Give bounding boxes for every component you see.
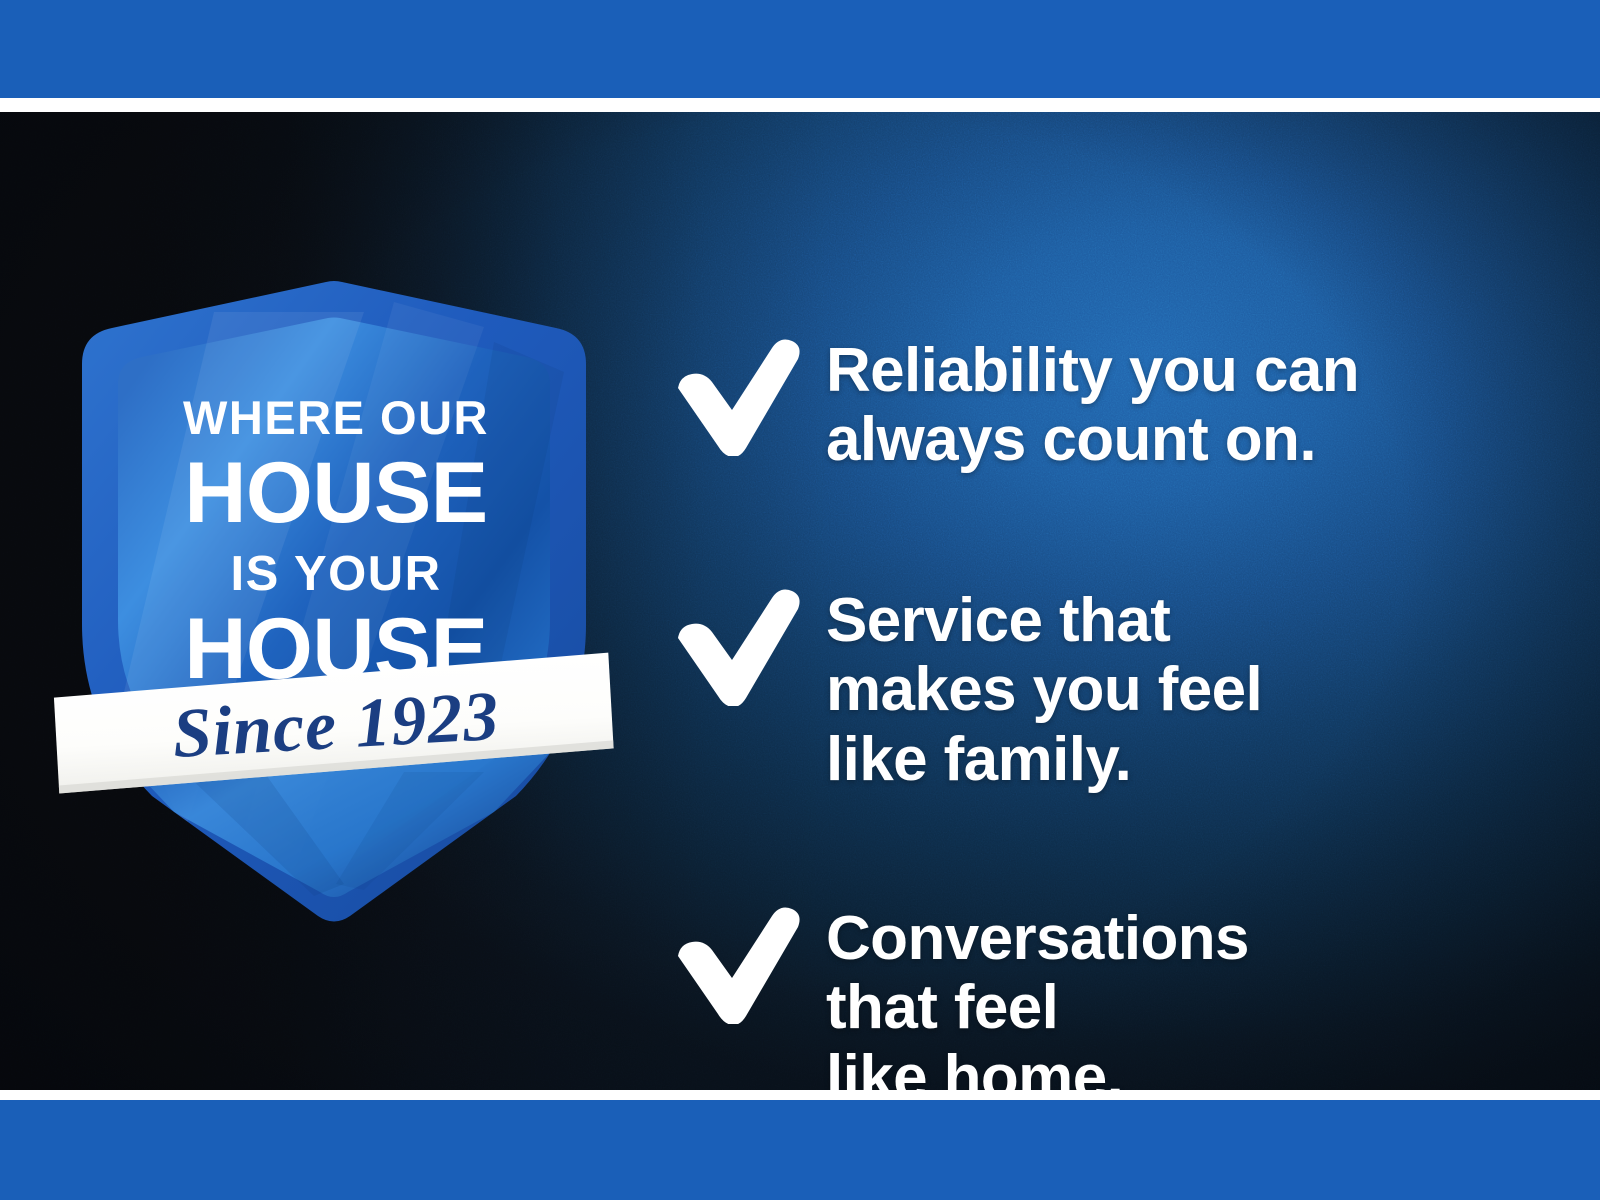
top-brand-bar (0, 0, 1600, 98)
bottom-brand-bar (0, 1100, 1600, 1200)
badge-line-3: IS YOUR (230, 547, 441, 601)
list-item: Service that makes you feel like family. (668, 582, 1262, 794)
list-item: Conversations that feel like home. (668, 900, 1249, 1090)
list-item-text: Conversations that feel like home. (826, 900, 1249, 1090)
checkmark-icon (668, 332, 808, 456)
list-item-text: Service that makes you feel like family. (826, 582, 1262, 794)
promo-banner: WHERE OUR HOUSE IS YOUR HOUSE Since 1923 (0, 0, 1600, 1200)
list-item-text: Reliability you can always count on. (826, 332, 1359, 475)
list-item: Reliability you can always count on. (668, 332, 1359, 475)
checkmark-icon (668, 582, 808, 706)
benefits-list: Reliability you can always count on. Ser… (668, 224, 1548, 1090)
checkmark-icon (668, 900, 808, 1024)
badge-line-2: HOUSE (184, 445, 487, 541)
main-panel: WHERE OUR HOUSE IS YOUR HOUSE Since 1923 (0, 112, 1600, 1090)
shield-badge: WHERE OUR HOUSE IS YOUR HOUSE Since 1923 (64, 272, 604, 932)
badge-line-1: WHERE OUR (183, 391, 489, 444)
